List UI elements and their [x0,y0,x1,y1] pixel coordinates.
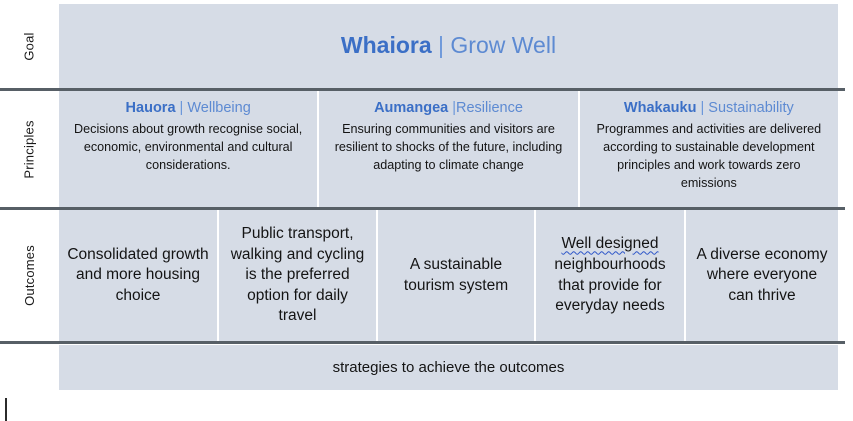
principle-maori-term: Hauora [126,100,176,116]
outcome-text: A sustainable tourism system [385,255,527,296]
principle-description: Decisions about growth recognise social,… [67,120,309,174]
outcome-cell: Public transport, walking and cycling is… [217,210,376,341]
principle-maori-term: Whakauku [624,100,697,116]
row-label-outcomes-text: Outcomes [22,245,37,306]
outcome-cell: Well designed neighbourhoods that provid… [534,210,684,341]
goal-english-term: Grow Well [450,32,556,58]
strategies-label: strategies to achieve the outcomes [333,359,565,376]
outcome-text-remainder: neighbourhoods that provide for everyday… [554,256,665,314]
text-cursor-caret [5,398,7,421]
outcome-cell: A diverse economy where everyone can thr… [684,210,838,341]
principle-heading: Whakauku | Sustainability [588,98,830,119]
principle-english-term: Sustainability [708,100,793,116]
principle-english-term: Resilience [456,100,523,116]
principle-heading: Aumangea |Resilience [327,98,569,119]
outcome-text: Public transport, walking and cycling is… [226,224,369,327]
principles-panel: Hauora | Wellbeing Decisions about growt… [59,91,838,207]
outcome-text: Consolidated growth and more housing cho… [66,245,210,307]
strategic-framework-diagram: Goal Whaiora | Grow Well Principles Hauo… [0,0,853,421]
outcome-text: A diverse economy where everyone can thr… [693,245,831,307]
principle-maori-term: Aumangea [374,100,448,116]
strategies-panel: strategies to achieve the outcomes [59,345,838,390]
outcome-cell: A sustainable tourism system [376,210,534,341]
row-label-goal: Goal [0,4,59,88]
principle-description: Programmes and activities are delivered … [588,120,830,193]
goal-panel: Whaiora | Grow Well [59,4,838,88]
principle-cell-hauora: Hauora | Wellbeing Decisions about growt… [59,91,317,207]
outcome-cell: Consolidated growth and more housing cho… [59,210,217,341]
principle-description: Ensuring communities and visitors are re… [327,120,569,174]
goal-title: Whaiora | Grow Well [341,32,556,60]
principle-english-term: Wellbeing [187,100,250,116]
goal-maori-term: Whaiora [341,32,432,58]
principle-cell-whakauku: Whakauku | Sustainability Programmes and… [578,91,838,207]
spellcheck-flagged-text: Well designed [561,235,658,252]
row-label-outcomes: Outcomes [0,210,59,341]
row-label-principles-text: Principles [22,120,37,178]
principle-heading: Hauora | Wellbeing [67,98,309,119]
rule-below-outcomes [0,341,845,344]
row-label-goal-text: Goal [22,32,37,60]
row-label-principles: Principles [0,91,59,207]
outcome-text: Well designed neighbourhoods that provid… [543,234,677,316]
outcomes-panel: Consolidated growth and more housing cho… [59,210,838,341]
principle-cell-aumangea: Aumangea |Resilience Ensuring communitie… [317,91,577,207]
